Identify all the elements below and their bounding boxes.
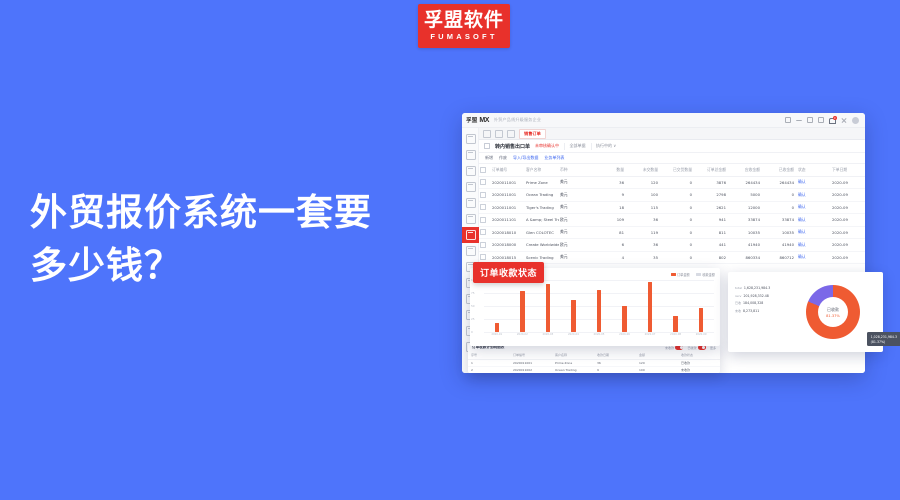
cell-delivered: 0	[661, 214, 695, 227]
table-body: 1 2020011001 Prime Zone 36 120 已收款 2 202…	[468, 359, 720, 373]
maximize-icon[interactable]	[818, 117, 824, 123]
cell-total: 2621	[695, 201, 729, 214]
bar[interactable]	[571, 300, 576, 332]
tab-scroll-right-icon[interactable]	[495, 130, 503, 138]
row-checkbox-cell	[479, 201, 491, 214]
tab-scroll-left-icon[interactable]	[483, 130, 491, 138]
col-index: 序号	[468, 352, 510, 359]
stat-key: recv	[735, 294, 741, 298]
cell-undelivered: 35	[627, 251, 661, 264]
bar-chart-plot: 100 75 50 25 0	[484, 280, 714, 332]
cell-date: 2020-09	[831, 239, 865, 252]
x-axis-labels: 2020-012020-022020-032020-042020-052020-…	[484, 333, 714, 341]
cell-received: 0	[763, 189, 797, 202]
legend-swatch	[696, 273, 701, 276]
col-undelivered[interactable]: 未交数量	[627, 164, 661, 176]
cell-undelivered: 120	[627, 176, 661, 189]
cell-currency: 欧元	[559, 239, 593, 252]
cell-date: 2020-09	[831, 176, 865, 189]
cell-received: 41940	[763, 239, 797, 252]
table-header-row: 序号 订单编号 客户名称 收款日期 金额 收款状态	[468, 352, 720, 359]
stat-row: recv 201,928,332.48	[735, 294, 770, 298]
cell-total: 941	[695, 214, 729, 227]
col-customer: 客户名称	[552, 352, 594, 359]
x-tick-label: 2020-07	[639, 333, 662, 341]
cell-qty: 18	[593, 201, 627, 214]
bar[interactable]	[520, 291, 525, 332]
action-bar: 新增 作废 导入/导出数据 业务单列表	[479, 153, 865, 164]
sidebar-item-inquiry[interactable]	[462, 163, 479, 179]
cell-qty: 9	[593, 189, 627, 202]
donut-ring[interactable]: 已收款 81.37%	[806, 285, 860, 339]
action-list[interactable]: 业务单列表	[544, 155, 564, 161]
cell-currency: 美元	[559, 226, 593, 239]
row-checkbox-cell	[479, 176, 491, 189]
cell-total: 2798	[695, 189, 729, 202]
logo-cn-text: 孚盟软件	[424, 10, 504, 31]
cell-status[interactable]: 确认	[797, 189, 831, 202]
row-checkbox[interactable]	[480, 242, 486, 248]
sidebar-item-product[interactable]	[462, 195, 479, 211]
cell-date: 2020-09	[831, 201, 865, 214]
legend-label: 订单金额	[677, 272, 690, 277]
legend-item-order-amount[interactable]: 订单金额	[671, 272, 690, 277]
bar-column[interactable]	[536, 280, 559, 332]
table-row[interactable]: 2020011001 Tiger's Trading 美元 18 115 0 2…	[479, 201, 865, 214]
cell-received: 33874	[763, 214, 797, 227]
cell-total: 3876	[695, 176, 729, 189]
row-checkbox-cell	[479, 226, 491, 239]
select-all-checkbox[interactable]	[484, 143, 490, 149]
stat-key: 未收	[735, 309, 741, 313]
cell-status: 未收款	[678, 367, 720, 374]
bar-column[interactable]	[613, 280, 636, 332]
notification-badge: 3	[833, 116, 838, 121]
minimize-icon[interactable]	[796, 117, 802, 123]
mail-icon	[466, 166, 476, 176]
restore-icon[interactable]	[807, 117, 813, 123]
cell-status[interactable]: 确认	[797, 226, 831, 239]
cell-qty: 4	[593, 251, 627, 264]
cell-undelivered: 100	[627, 189, 661, 202]
cell-order-no: 2020011101	[491, 214, 525, 227]
divider	[591, 143, 592, 150]
cell-date: 36	[594, 359, 636, 367]
y-tick-label: 50	[471, 304, 475, 308]
legend-swatch	[671, 273, 676, 276]
cell-order: 2020011002	[510, 367, 552, 374]
row-checkbox[interactable]	[480, 204, 486, 210]
cell-order-no: 2020018000	[491, 239, 525, 252]
cell-order-no: 2020018010	[491, 226, 525, 239]
divider	[564, 143, 565, 150]
x-tick-label: 2020-09	[690, 333, 713, 341]
cell-undelivered: 36	[627, 214, 661, 227]
cell-date: 2020-09	[831, 189, 865, 202]
cell-delivered: 0	[661, 226, 695, 239]
row-checkbox-cell	[479, 214, 491, 227]
notification-icon[interactable]: 3	[829, 117, 836, 124]
filterbar-tag[interactable]: 未审核确认中	[535, 143, 559, 149]
cell-undelivered: 36	[627, 239, 661, 252]
cell-order: 2020011001	[510, 359, 552, 367]
cell-currency: 美元	[559, 201, 593, 214]
cell-receivable: 10035	[729, 226, 763, 239]
table-row[interactable]: 2020011101 A &amp; Steel Trading 欧元 109 …	[479, 214, 865, 227]
cell-qty: 109	[593, 214, 627, 227]
col-qty[interactable]: 数量	[593, 164, 627, 176]
x-tick-label: 2020-08	[664, 333, 687, 341]
row-checkbox[interactable]	[480, 179, 486, 185]
sidebar-item-order[interactable]	[462, 227, 479, 243]
col-status[interactable]: 状态	[797, 164, 831, 176]
cell-amount: 100	[636, 367, 678, 374]
cell-status[interactable]: 确认	[797, 214, 831, 227]
cell-customer: Tiger's Trading	[525, 201, 559, 214]
cell-date: 9	[594, 367, 636, 374]
cell-status: 已收款	[678, 359, 720, 367]
cell-total: 802	[695, 251, 729, 264]
page-title: 外贸报价系统一套要 多少钱？	[30, 186, 430, 292]
cell-currency: 美元	[559, 189, 593, 202]
col-delivered[interactable]: 已交货数量	[661, 164, 695, 176]
cell-currency: 美元	[559, 251, 593, 264]
donut-chart-card: total 1,628,231,984.3 recv 201,928,332.4…	[728, 272, 883, 352]
cell-order-no: 2020011001	[491, 201, 525, 214]
donut-center-label: 已收款	[827, 307, 839, 313]
tab-sales-order[interactable]: 销售订单	[519, 129, 546, 139]
col-select	[479, 164, 491, 176]
bar[interactable]	[597, 290, 602, 332]
x-tick-label: 2020-01	[485, 333, 508, 341]
table-header-row: 订单编号 客户名称 币种 数量 未交数量 已交货数量 订单总金额 应收金额 已收…	[479, 164, 865, 176]
cell-customer: Prime Zone	[525, 176, 559, 189]
col-date[interactable]: 下单日期	[831, 164, 865, 176]
table-body: 2020011001 Prime Zone 美元 36 120 0 3876 2…	[479, 176, 865, 264]
cell-receivable: 12000	[729, 201, 763, 214]
cell-received: 860712	[763, 251, 797, 264]
toggle-label: 未收款	[665, 346, 674, 350]
action-import-export[interactable]: 导入/导出数据	[513, 155, 538, 161]
cell-customer: Create Worldwide	[525, 239, 559, 252]
cell-receivable: 5000	[729, 189, 763, 202]
cell-delivered: 0	[661, 201, 695, 214]
cell-amount: 120	[636, 359, 678, 367]
stat-value: 1,628,231,984.3	[744, 286, 770, 290]
action-void[interactable]: 作废	[499, 155, 507, 161]
cell-undelivered: 115	[627, 201, 661, 214]
avatar[interactable]	[852, 117, 859, 124]
row-checkbox[interactable]	[480, 229, 486, 235]
settings-icon[interactable]	[785, 117, 791, 123]
donut-center-value: 81.37%	[826, 314, 840, 318]
cell-status[interactable]: 确认	[797, 239, 831, 252]
bar[interactable]	[546, 284, 551, 332]
table-row[interactable]: 2 2020011002 Ocean Trading 9 100 未收款	[468, 367, 720, 374]
stat-row: 已收 184,008,328	[735, 301, 770, 305]
cell-total: 811	[695, 226, 729, 239]
cell-status[interactable]: 确认	[797, 176, 831, 189]
cell-undelivered: 119	[627, 226, 661, 239]
x-tick-label: 2020-06	[613, 333, 636, 341]
stat-value: 201,928,332.48	[743, 294, 768, 298]
bar-column[interactable]	[587, 280, 610, 332]
cell-delivered: 0	[661, 239, 695, 252]
cell-qty: 36	[593, 176, 627, 189]
cell-status[interactable]: 确认	[797, 251, 831, 264]
cell-customer: Glen COLOTEC	[525, 226, 559, 239]
cell-customer: Ocean Trading	[552, 367, 594, 374]
y-tick-label: 75	[471, 291, 475, 295]
bar-column[interactable]	[562, 280, 585, 332]
cell-order-no: 2020011001	[491, 176, 525, 189]
logo-en-text: FUMASOFT	[430, 32, 497, 42]
truck-icon	[466, 214, 476, 224]
stat-key: total	[735, 286, 742, 290]
stat-value: 184,008,328	[743, 301, 763, 305]
donut-stats: total 1,628,231,984.3 recv 201,928,332.4…	[735, 286, 770, 316]
col-status: 收款状态	[678, 352, 720, 359]
close-icon[interactable]	[841, 117, 847, 123]
col-amount: 金额	[636, 352, 678, 359]
cell-currency: 美元	[559, 176, 593, 189]
cell-order-no: 2020011001	[491, 189, 525, 202]
cell-receivable: 41940	[729, 239, 763, 252]
legend-item-received-amount[interactable]: 收款金额	[696, 272, 715, 277]
bar-column[interactable]	[511, 280, 534, 332]
x-tick-label: 2020-02	[511, 333, 534, 341]
cell-received: 0	[763, 201, 797, 214]
cell-index: 1	[468, 359, 510, 367]
cell-currency: 欧元	[559, 214, 593, 227]
headline-line-1: 外贸报价系统一套要	[30, 186, 430, 239]
sidebar-item-finance[interactable]	[462, 243, 479, 259]
col-currency[interactable]: 币种	[559, 164, 593, 176]
wallet-icon	[466, 246, 476, 256]
toggle-label: 已收款	[687, 346, 696, 350]
col-order-no[interactable]: 订单编号	[491, 164, 525, 176]
tab-strip: 销售订单	[479, 128, 865, 140]
cell-receivable: 33874	[729, 214, 763, 227]
x-tick-label: 2020-03	[536, 333, 559, 341]
stat-key: 已收	[735, 301, 741, 305]
col-order: 订单编号	[510, 352, 552, 359]
col-total[interactable]: 订单总金额	[695, 164, 729, 176]
stat-row: 未收 8,273,811	[735, 309, 770, 313]
cell-delivered: 0	[661, 189, 695, 202]
chart-legend: 订单金额 收款金额	[671, 272, 716, 277]
cell-customer: Prime Zone	[552, 359, 594, 367]
tooltip-percent: (81.37%)	[871, 340, 897, 344]
legend-label: 收款金额	[702, 272, 715, 277]
sidebar-item-customer[interactable]	[462, 147, 479, 163]
bar[interactable]	[699, 308, 704, 332]
app-slogan: 外贸产品线升级服务企业	[494, 117, 541, 123]
select-all-checkbox[interactable]	[480, 167, 486, 173]
tab-home-icon[interactable]	[507, 130, 515, 138]
row-checkbox-cell	[479, 239, 491, 252]
cell-status[interactable]: 确认	[797, 201, 831, 214]
bar-column[interactable]	[639, 280, 662, 332]
more-label: 更多	[710, 346, 716, 350]
bar[interactable]	[622, 306, 627, 332]
bar[interactable]	[495, 323, 500, 332]
row-checkbox[interactable]	[480, 254, 486, 260]
stat-value: 8,273,811	[743, 309, 759, 313]
headline-line-2: 多少钱？	[30, 239, 430, 292]
bar[interactable]	[648, 282, 653, 332]
cell-receivable: 860334	[729, 251, 763, 264]
callout-badge: 订单收款状态	[473, 262, 544, 283]
bar[interactable]	[673, 316, 678, 332]
x-tick-label: 2020-04	[562, 333, 585, 341]
tooltip-value: 1,028,231,984.3	[871, 335, 897, 339]
cell-customer: A &amp; Steel Trading	[525, 214, 559, 227]
app-logo-mx: MX	[479, 117, 489, 124]
cell-qty: 6	[593, 239, 627, 252]
home-icon	[466, 134, 476, 144]
stat-row: total 1,628,231,984.3	[735, 286, 770, 290]
cell-delivered: 0	[661, 251, 695, 264]
more-button[interactable]: 更多	[710, 346, 716, 350]
sidebar-item-quote[interactable]	[462, 179, 479, 195]
cell-total: 441	[695, 239, 729, 252]
doc-icon	[466, 182, 476, 192]
cell-received: 264434	[763, 176, 797, 189]
action-new[interactable]: 新增	[485, 155, 493, 161]
row-checkbox[interactable]	[480, 217, 486, 223]
user-icon	[466, 150, 476, 160]
col-receivable[interactable]: 应收金额	[729, 164, 763, 176]
window-controls: 3	[785, 117, 861, 124]
table-row[interactable]: 1 2020011001 Prime Zone 36 120 已收款	[468, 359, 720, 367]
cell-date: 2020-09	[831, 214, 865, 227]
table-row[interactable]: 2020011001 Ocean Trading 美元 9 100 0 2798…	[479, 189, 865, 202]
table-row[interactable]: 2020011001 Prime Zone 美元 36 120 0 3876 2…	[479, 176, 865, 189]
y-tick-label: 25	[471, 317, 475, 321]
order-icon	[466, 230, 476, 240]
table-row[interactable]: 2020018010 Glen COLOTEC 美元 81 119 0 811 …	[479, 226, 865, 239]
filter-bar: 转内销售出口单 未审核确认中 全部单据 执行中的 ∨	[479, 140, 865, 153]
chart-tooltip: 1,028,231,984.3 (81.37%)	[867, 332, 900, 346]
cell-date: 2020-09	[831, 226, 865, 239]
donut-center: 已收款 81.37%	[818, 297, 848, 327]
filterbar-dropdown-1[interactable]: 全部单据	[570, 143, 586, 149]
app-logo-cn: 孚盟	[466, 116, 477, 124]
payment-plan-panel: 订单收款计划明细表 未收款 已收款 更多 序号 订单编号 客户名称 收款日期 金…	[468, 343, 720, 373]
cell-delivered: 0	[661, 176, 695, 189]
cell-index: 2	[468, 367, 510, 374]
cell-receivable: 264434	[729, 176, 763, 189]
filterbar-dropdown-2[interactable]: 执行中的 ∨	[596, 143, 616, 149]
bar-column[interactable]	[664, 280, 687, 332]
site-logo: 孚盟软件 FUMASOFT	[418, 4, 510, 48]
cell-customer: Ocean Trading	[525, 189, 559, 202]
app-titlebar: 孚盟 MX 外贸产品线升级服务企业 3	[462, 113, 865, 128]
sidebar-item-home[interactable]	[462, 131, 479, 147]
cell-qty: 81	[593, 226, 627, 239]
y-tick-label: 0	[471, 330, 473, 334]
bar-column[interactable]	[485, 280, 508, 332]
app-logo: 孚盟 MX	[466, 116, 489, 124]
col-customer[interactable]: 客户名称	[525, 164, 559, 176]
cell-date: 2020-09	[831, 251, 865, 264]
col-date: 收款日期	[594, 352, 636, 359]
bar-series	[484, 280, 714, 332]
x-tick-label: 2020-05	[587, 333, 610, 341]
payment-plan-table: 序号 订单编号 客户名称 收款日期 金额 收款状态 1 2020011001 P…	[468, 352, 720, 373]
row-checkbox-cell	[479, 189, 491, 202]
cell-received: 10035	[763, 226, 797, 239]
filterbar-title[interactable]: 转内销售出口单	[495, 143, 530, 150]
table-row[interactable]: 2020018000 Create Worldwide 欧元 6 36 0 44…	[479, 239, 865, 252]
row-checkbox[interactable]	[480, 192, 486, 198]
box-icon	[466, 198, 476, 208]
bar-column[interactable]	[690, 280, 713, 332]
sidebar-item-supplier[interactable]	[462, 211, 479, 227]
col-received[interactable]: 已收金额	[763, 164, 797, 176]
